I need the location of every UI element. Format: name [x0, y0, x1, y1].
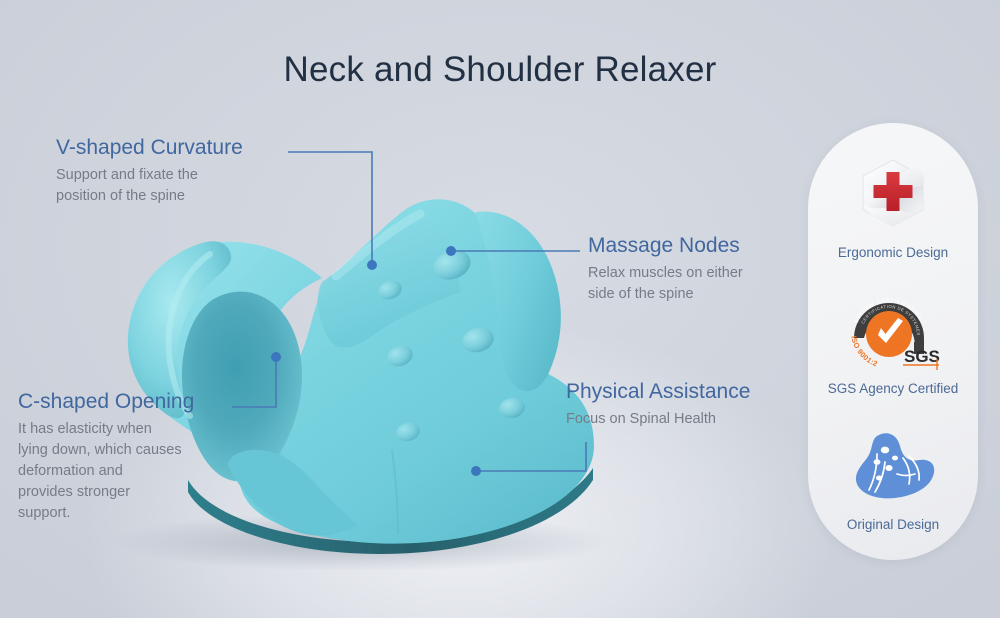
callout-heading: Massage Nodes [588, 234, 743, 258]
pillow-silhouette-icon [847, 423, 939, 509]
callout-body: It has elasticity when lying down, which… [18, 419, 194, 524]
callout-heading: Physical Assistance [566, 380, 750, 404]
callout-heading: V-shaped Curvature [56, 136, 243, 160]
page-title: Neck and Shoulder Relaxer [0, 50, 1000, 90]
badge-label: Original Design [847, 517, 939, 532]
certification-badge-panel: Ergonomic Design [808, 123, 978, 560]
callout-massage-nodes: Massage Nodes Relax muscles on either si… [588, 234, 743, 305]
badge-label: SGS Agency Certified [828, 381, 959, 396]
badge-sgs-agency-certified: SYSTEM CERTIFICATION CERTIFICATION DE SY… [808, 287, 978, 396]
callout-v-shaped-curvature: V-shaped Curvature Support and fixate th… [56, 136, 243, 207]
sgs-iso-certification-icon: SYSTEM CERTIFICATION CERTIFICATION DE SY… [841, 287, 945, 373]
badge-original-design: Original Design [808, 423, 978, 532]
callout-physical-assistance: Physical Assistance Focus on Spinal Heal… [566, 380, 750, 430]
callout-heading: C-shaped Opening [18, 390, 194, 414]
infographic-canvas: Neck and Shoulder Relaxer [0, 0, 1000, 618]
callout-body: Focus on Spinal Health [566, 409, 750, 430]
badge-ergonomic-design: Ergonomic Design [808, 151, 978, 260]
callout-body: Relax muscles on either side of the spin… [588, 263, 743, 305]
sgs-wordmark: SGS [904, 347, 940, 366]
badge-label: Ergonomic Design [838, 245, 948, 260]
callout-c-shaped-opening: C-shaped Opening It has elasticity when … [18, 390, 194, 524]
callout-body: Support and fixate the position of the s… [56, 165, 243, 207]
red-cross-hexagon-icon [854, 151, 932, 237]
